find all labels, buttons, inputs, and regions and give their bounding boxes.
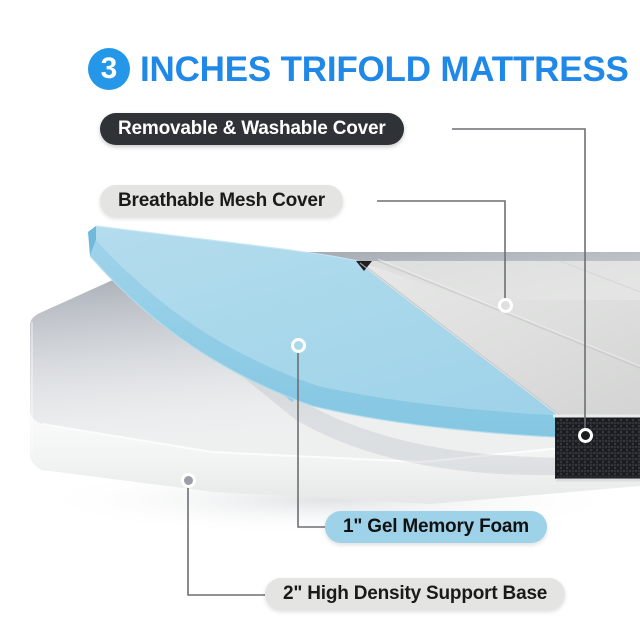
marker-gel-foam[interactable] [291, 338, 306, 353]
breathable-mesh-band [553, 416, 640, 480]
callout-breathable-mesh-cover[interactable]: Breathable Mesh Cover [100, 185, 343, 217]
marker-support-base[interactable] [181, 473, 196, 488]
mattress-illustration [0, 0, 640, 640]
marker-removable-cover[interactable] [578, 428, 593, 443]
callout-high-density-support-base[interactable]: 2" High Density Support Base [265, 578, 565, 610]
product-infographic: 3 INCHES TRIFOLD MATTRESS [0, 0, 640, 640]
callout-gel-memory-foam[interactable]: 1" Gel Memory Foam [325, 511, 547, 543]
marker-mesh-cover[interactable] [498, 298, 513, 313]
callout-removable-washable-cover[interactable]: Removable & Washable Cover [100, 113, 404, 145]
